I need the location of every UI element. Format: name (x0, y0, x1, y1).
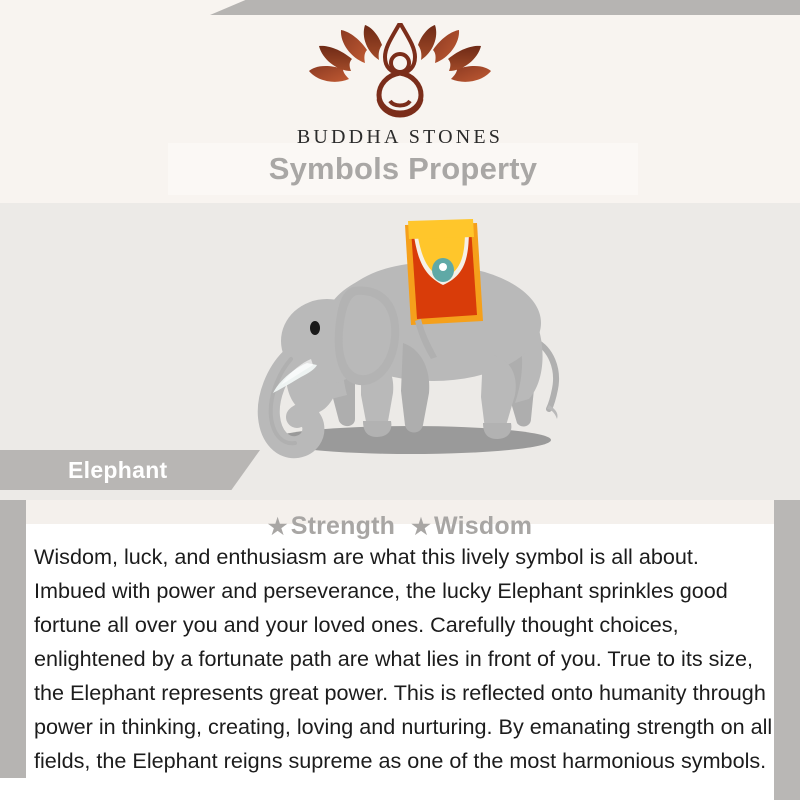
attribute-wisdom: ★Wisdom (411, 512, 532, 540)
brand-logo: BUDDHA STONES (0, 23, 800, 149)
attribute-strength-label: Strength (291, 512, 395, 540)
description-text: Wisdom, luck, and enthusiasm are what th… (34, 540, 774, 778)
star-icon: ★ (411, 514, 431, 539)
symbol-name-label: Elephant (68, 457, 168, 484)
star-icon: ★ (268, 514, 288, 539)
page-title: Symbols Property (269, 151, 538, 187)
left-edge-strip (0, 500, 26, 778)
attribute-strength: ★Strength (268, 512, 395, 540)
right-edge-strip (774, 500, 800, 800)
attributes-row: ★Strength★Wisdom (0, 512, 800, 541)
title-banner: Symbols Property (168, 143, 638, 195)
lotus-meditation-icon (0, 23, 800, 124)
top-decorative-bar (210, 0, 800, 15)
symbols-property-card: BUDDHA STONES Symbols Property (0, 0, 800, 800)
symbol-name-banner: Elephant (0, 450, 260, 490)
attribute-wisdom-label: Wisdom (434, 512, 532, 540)
elephant-illustration (215, 213, 585, 468)
